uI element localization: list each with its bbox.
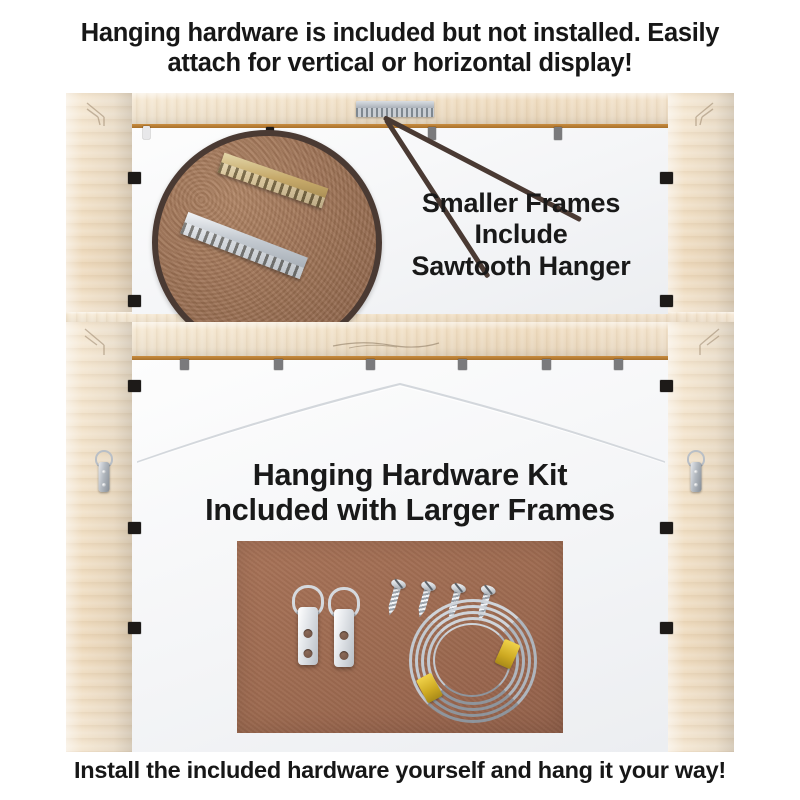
corner-vnail-icon bbox=[676, 99, 716, 129]
headline-text: Hanging hardware is included but not ins… bbox=[0, 18, 800, 78]
backing-clip bbox=[660, 295, 673, 307]
lower-caption-line-1: Hanging Hardware Kit bbox=[132, 458, 688, 493]
upper-caption-line-3: Sawtooth Hanger bbox=[366, 251, 676, 282]
sawtooth-hanger-on-frame bbox=[356, 101, 434, 117]
hanging-hardware-kit-photo bbox=[237, 541, 563, 733]
headline-line-2: attach for vertical or horizontal displa… bbox=[26, 48, 774, 78]
kit-d-ring-hanger bbox=[291, 585, 325, 695]
headline-line-1: Hanging hardware is included but not ins… bbox=[81, 19, 719, 47]
upper-panel-caption: Smaller Frames Include Sawtooth Hanger bbox=[366, 188, 676, 282]
kit-coiled-wire bbox=[409, 599, 537, 723]
lower-caption-line-2: Included with Larger Frames bbox=[132, 493, 688, 528]
footer-text: Install the included hardware yourself a… bbox=[0, 757, 800, 785]
backing-clip bbox=[660, 172, 673, 184]
backing-clip bbox=[143, 126, 150, 139]
corner-vnail-icon bbox=[84, 99, 124, 129]
upper-caption-line-2: Include bbox=[366, 219, 676, 250]
kit-screw bbox=[378, 577, 411, 623]
lower-panel-caption: Hanging Hardware Kit Included with Large… bbox=[132, 458, 688, 529]
upper-caption-line-1: Smaller Frames bbox=[366, 188, 676, 219]
backing-clip bbox=[128, 172, 141, 184]
kit-d-ring-hanger bbox=[327, 587, 361, 697]
backing-clip bbox=[128, 295, 141, 307]
d-ring-hanger-left bbox=[84, 450, 124, 510]
infographic-canvas: Hanging hardware is included but not ins… bbox=[0, 0, 800, 800]
backing-clip bbox=[554, 127, 562, 140]
